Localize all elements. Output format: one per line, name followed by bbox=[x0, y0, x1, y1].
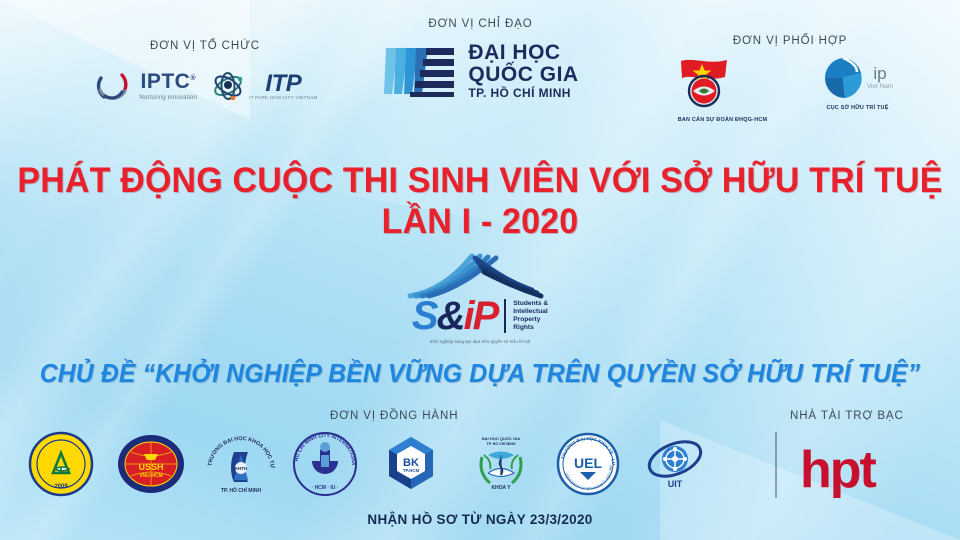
page-title: PHÁT ĐỘNG CUỘC THI SINH VIÊN VỚI SỞ HỮU … bbox=[14, 160, 945, 243]
title-line-2: LẦN I - 2020 bbox=[14, 201, 945, 242]
ip-vietnam-logo: ip Viet Nam CỤC SỞ HỮU TRÍ TUỆ bbox=[810, 55, 905, 123]
partner-logo-uit: UIT bbox=[644, 435, 718, 493]
coordinating-label: ĐƠN VỊ PHỐI HỢP bbox=[655, 35, 925, 47]
svg-text:TP. HỒ CHÍ MINH: TP. HỒ CHÍ MINH bbox=[221, 486, 262, 494]
itp-atom-icon bbox=[211, 70, 245, 102]
an-giang-university-seal-icon: 2009 bbox=[28, 431, 94, 497]
svg-text:KHTN: KHTN bbox=[235, 466, 248, 471]
iptc-logo: IPTC® Nurturing innovation bbox=[92, 66, 197, 106]
coordinating-caption-0: BAN CÁN SỰ ĐOÀN ĐHQG-HCM bbox=[675, 117, 770, 123]
svg-text:ĐẠI HỌC QUỐC GIA: ĐẠI HỌC QUỐC GIA bbox=[482, 436, 520, 441]
uel-seal-icon: TRƯỜNG ĐẠI HỌC KINH TẾ - LUẬT UEL UNIVER… bbox=[556, 432, 620, 496]
medical-faculty-seal-icon: ĐẠI HỌC QUỐC GIA TP. HỒ CHÍ MINH KHOA Y bbox=[468, 431, 534, 497]
ussh-seal-icon: USSH VNU-HCM bbox=[116, 432, 186, 496]
partner-logo-row: 2009 USSH VNU-HCM TRƯỜNG ĐẠI HỌC KHOA HỌ… bbox=[28, 430, 718, 498]
youth-union-logo: BAN CÁN SỰ ĐOÀN ĐHQG-HCM bbox=[675, 55, 770, 123]
svg-text:UEL: UEL bbox=[574, 455, 602, 471]
vnu-line2: QUỐC GIA bbox=[468, 64, 578, 85]
ip-logo-text: ip bbox=[867, 65, 894, 82]
organizer-label: ĐƠN VỊ TỔ CHỨC bbox=[90, 40, 320, 52]
vnu-line1: ĐẠI HỌC bbox=[468, 42, 578, 63]
sponsor-label: NHÀ TÀI TRỢ BẠC bbox=[790, 410, 904, 422]
sponsor-divider bbox=[775, 432, 777, 498]
directing-block: ĐƠN VỊ CHỈ ĐẠO bbox=[363, 18, 598, 102]
saip-tagline-line4: Rights bbox=[513, 324, 548, 332]
hcmus-seal-icon: TRƯỜNG ĐẠI HỌC KHOA HỌC TỰ NHIÊN KHTN TP… bbox=[204, 430, 278, 498]
saip-footnote: Khởi nghiệp sáng tạo dựa trên quyền sở h… bbox=[380, 339, 580, 344]
vnu-line3: TP. HỒ CHÍ MINH bbox=[468, 87, 578, 99]
itp-logo: ITP IT PARK HCM CITY VIETNAM bbox=[211, 70, 317, 102]
saip-book-fan-icon bbox=[380, 252, 580, 300]
iptc-name: IPTC bbox=[141, 70, 191, 93]
saip-divider bbox=[504, 299, 506, 333]
directing-label: ĐƠN VỊ CHỈ ĐẠO bbox=[363, 18, 598, 30]
iptc-tagline: Nurturing innovation bbox=[139, 95, 197, 101]
coordinating-block: ĐƠN VỊ PHỐI HỢP BAN CÁN SỰ ĐOÀN ĐHQG-HCM bbox=[655, 35, 925, 123]
uit-logo-icon: UIT bbox=[644, 435, 706, 493]
svg-text:UIT: UIT bbox=[668, 479, 683, 489]
ip-pinwheel-icon bbox=[822, 55, 864, 101]
title-line-1: PHÁT ĐỘNG CUỘC THI SINH VIÊN VỚI SỞ HỮU … bbox=[14, 160, 945, 201]
registered-icon: ® bbox=[190, 75, 196, 82]
svg-text:USSH: USSH bbox=[138, 462, 163, 472]
svg-text:2009: 2009 bbox=[54, 484, 68, 490]
saip-tagline-line3: Property bbox=[513, 316, 548, 324]
companion-label: ĐƠN VỊ ĐỒNG HÀNH bbox=[330, 410, 458, 422]
svg-text:· HCM · IU ·: · HCM · IU · bbox=[312, 485, 339, 491]
svg-text:TP.HCM: TP.HCM bbox=[403, 468, 420, 473]
svg-text:TP. HỒ CHÍ MINH: TP. HỒ CHÍ MINH bbox=[487, 441, 516, 446]
itp-name: ITP bbox=[249, 72, 317, 96]
page-subtitle: CHỦ ĐỀ “KHỞI NGHIỆP BỀN VỮNG DỰA TRÊN QU… bbox=[24, 358, 936, 389]
iptc-swirl-icon bbox=[92, 66, 132, 106]
international-university-seal-icon: HO CHI MINH CITY INTERNATIONAL UNIV · HC… bbox=[292, 431, 358, 497]
poster-stage: ĐƠN VỊ TỔ CHỨC IPTC® Nurturing innovatio… bbox=[0, 0, 960, 540]
organizer-block: ĐƠN VỊ TỔ CHỨC IPTC® Nurturing innovatio… bbox=[90, 40, 320, 106]
partner-logo-uel: TRƯỜNG ĐẠI HỌC KINH TẾ - LUẬT UEL UNIVER… bbox=[556, 432, 630, 496]
svg-text:KHOA Y: KHOA Y bbox=[491, 485, 511, 491]
itp-tagline: IT PARK HCM CITY VIETNAM bbox=[249, 96, 317, 101]
saip-logo: S&iP Students & Intellectual Property Ri… bbox=[0, 252, 960, 344]
partner-logo-hcmus: TRƯỜNG ĐẠI HỌC KHOA HỌC TỰ NHIÊN KHTN TP… bbox=[204, 430, 278, 498]
partner-logo-iu: HO CHI MINH CITY INTERNATIONAL UNIV · HC… bbox=[292, 431, 366, 497]
vnu-hcm-logo-icon bbox=[382, 40, 460, 102]
saip-tagline: Students & Intellectual Property Rights bbox=[513, 300, 548, 333]
svg-text:VNU-HCM: VNU-HCM bbox=[139, 473, 163, 479]
partner-logo-ussh: USSH VNU-HCM bbox=[116, 432, 190, 496]
application-deadline: NHẬN HỒ SƠ TỪ NGÀY 23/3/2020 bbox=[0, 512, 960, 527]
partner-logo-agu: 2009 bbox=[28, 431, 102, 497]
hpt-sponsor-logo: hpt bbox=[800, 440, 875, 500]
saip-tagline-line2: Intellectual bbox=[513, 308, 548, 316]
ip-logo-sub: Viet Nam bbox=[867, 84, 894, 91]
bach-khoa-cube-icon: BK TP.HCM bbox=[380, 433, 442, 495]
partner-logo-bk: BK TP.HCM bbox=[380, 433, 454, 495]
partner-logo-khoa-y: ĐẠI HỌC QUỐC GIA TP. HỒ CHÍ MINH KHOA Y bbox=[468, 431, 542, 497]
coordinating-caption-1: CỤC SỞ HỮU TRÍ TUỆ bbox=[810, 105, 905, 111]
youth-union-flag-icon bbox=[675, 55, 733, 113]
